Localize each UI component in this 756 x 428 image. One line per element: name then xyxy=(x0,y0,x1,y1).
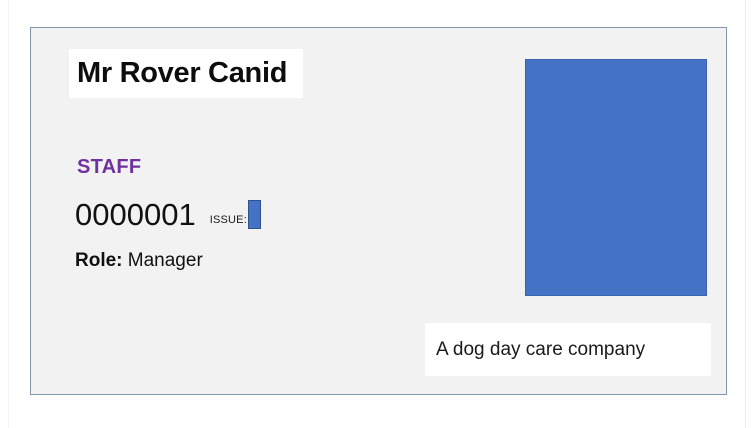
canvas-right-rule xyxy=(745,0,746,428)
canvas-left-rule xyxy=(8,0,9,428)
name-plate[interactable]: Mr Rover Canid xyxy=(69,49,303,98)
staff-category-label: STAFF xyxy=(77,156,141,179)
role-row: Role: Manager xyxy=(75,250,203,272)
photo-placeholder[interactable] xyxy=(525,59,707,296)
issue-value-block[interactable] xyxy=(248,200,261,229)
role-value: Manager xyxy=(128,250,203,271)
badge-id-number: 0000001 xyxy=(75,199,196,230)
badge-holder-name: Mr Rover Canid xyxy=(69,57,287,90)
role-label: Role: xyxy=(75,250,123,271)
company-tagline: A dog day care company xyxy=(425,339,645,361)
issue-label: ISSUE: xyxy=(210,214,247,226)
id-number-row: 0000001 ISSUE: xyxy=(75,190,261,230)
id-badge-card[interactable]: Mr Rover Canid STAFF 0000001 ISSUE: Role… xyxy=(30,27,727,395)
tagline-plate[interactable]: A dog day care company xyxy=(425,323,711,376)
